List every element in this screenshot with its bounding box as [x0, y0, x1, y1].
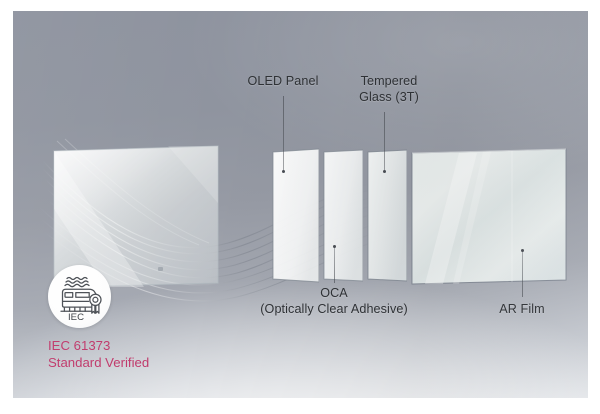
panel-oled-panel	[261, 141, 308, 274]
train-vibration-certificate-icon: IEC	[55, 273, 105, 321]
label-ar-film: AR Film	[499, 302, 544, 318]
module-sensor-mark	[158, 267, 163, 271]
panel-tempered-glass	[355, 141, 396, 274]
label-tempered-glass: Tempered Glass (3T)	[359, 74, 419, 105]
panel-display-module	[52, 145, 214, 281]
label-oca: OCA (Optically Clear Adhesive)	[260, 286, 407, 317]
badge-icon-caption: IEC	[68, 312, 84, 321]
iec-caption-line-1: IEC 61373	[48, 338, 110, 353]
label-oled-panel: OLED Panel	[247, 74, 318, 90]
panel-ar-film	[399, 141, 554, 274]
iec-certification-badge: IEC	[48, 265, 111, 328]
panel-oca	[311, 141, 352, 274]
iec-caption-line-2: Standard Verified	[48, 355, 149, 370]
diagram-frame: OLED Panel Tempered Glass (3T) OCA (Opti…	[13, 11, 588, 398]
figure-canvas: OLED Panel Tempered Glass (3T) OCA (Opti…	[0, 0, 600, 414]
iec-standard-caption: IEC 61373Standard Verified	[48, 338, 149, 371]
